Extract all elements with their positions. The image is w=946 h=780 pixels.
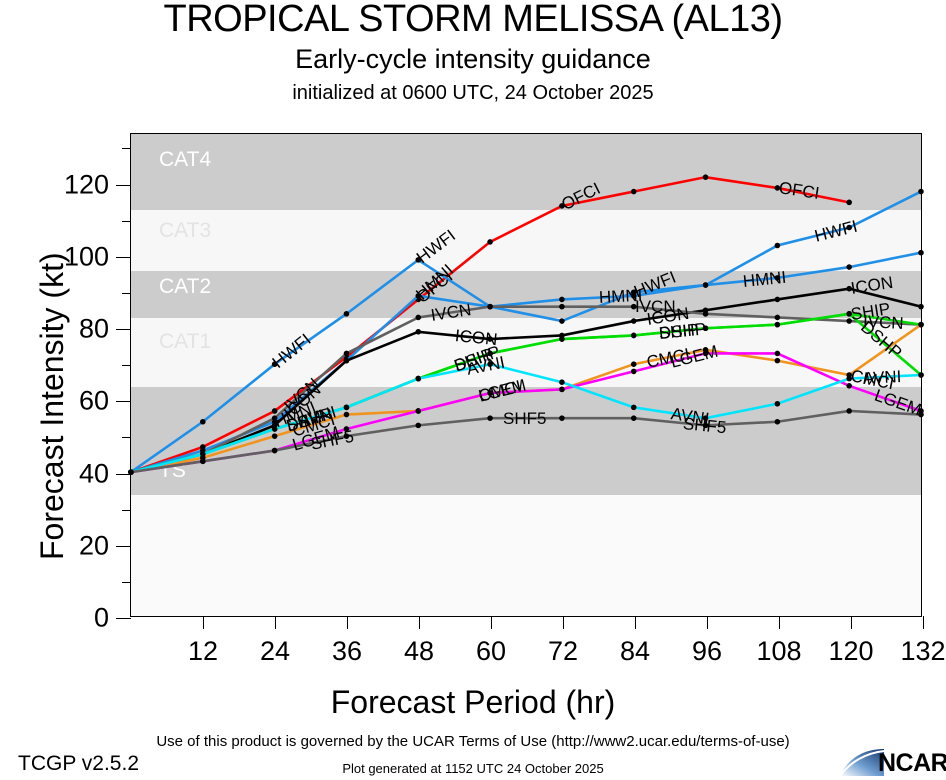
- data-point-ofci: [487, 239, 493, 245]
- x-tick-label: 84: [620, 636, 650, 667]
- data-point-hwfi: [559, 318, 565, 324]
- x-tick-label: 24: [260, 636, 290, 667]
- x-tick: [347, 616, 348, 629]
- data-point-hmni: [703, 282, 709, 288]
- y-tick-major: [116, 546, 131, 547]
- data-point-cmci: [918, 322, 924, 328]
- data-point-icon: [631, 318, 637, 324]
- data-point-shf5: [415, 423, 421, 429]
- y-tick-label: 60: [79, 386, 109, 417]
- y-tick-minor: [122, 148, 131, 149]
- x-tick-label: 60: [476, 636, 506, 667]
- x-tick: [635, 616, 636, 629]
- chart-page: TROPICAL STORM MELISSA (AL13) Early-cycl…: [0, 0, 946, 780]
- y-tick-minor: [122, 365, 131, 366]
- data-point-avni: [918, 372, 924, 378]
- y-tick-major: [116, 257, 131, 258]
- data-point-lgem: [631, 369, 637, 375]
- series-line-ofci: [131, 177, 849, 472]
- x-tick: [203, 616, 204, 629]
- y-tick-major: [116, 401, 131, 402]
- x-tick: [563, 616, 564, 629]
- data-point-lgem: [559, 387, 565, 393]
- data-point-hwfi: [200, 419, 206, 425]
- page-subtitle: Early-cycle intensity guidance: [0, 44, 946, 75]
- x-tick: [491, 616, 492, 629]
- data-point-avni: [631, 405, 637, 411]
- model-label-avni: AVNI: [862, 367, 901, 389]
- data-point-ivcn: [344, 351, 350, 357]
- data-point-ivcn: [487, 304, 493, 310]
- data-point-cmci: [775, 358, 781, 364]
- y-tick-major: [116, 329, 131, 330]
- data-point-cmci: [344, 412, 350, 418]
- data-point-ofci: [703, 174, 709, 180]
- y-tick-major: [116, 185, 131, 186]
- x-tick: [779, 616, 780, 629]
- data-point-hmni: [559, 297, 565, 303]
- x-tick-label: 48: [404, 636, 434, 667]
- x-tick-label: 72: [548, 636, 578, 667]
- data-point-avni: [775, 401, 781, 407]
- data-point-icon: [918, 304, 924, 310]
- data-point-avni: [344, 405, 350, 411]
- data-point-shf5: [200, 459, 206, 465]
- data-point-ofci: [846, 200, 852, 206]
- data-point-lgem: [775, 351, 781, 357]
- data-point-shf5: [487, 415, 493, 421]
- data-point-shf5: [846, 408, 852, 414]
- x-axis-label: Forecast Period (hr): [0, 684, 946, 721]
- data-point-shf5: [559, 415, 565, 421]
- y-tick-minor: [122, 510, 131, 511]
- data-point-avni: [559, 379, 565, 385]
- data-point-avni: [200, 451, 206, 457]
- data-point-icon: [344, 358, 350, 364]
- data-point-avni: [415, 376, 421, 382]
- data-point-dshp: [775, 322, 781, 328]
- y-tick-label: 20: [79, 530, 109, 561]
- x-tick: [419, 616, 420, 629]
- x-tick-label: 12: [188, 636, 218, 667]
- y-tick-label: 80: [79, 314, 109, 345]
- plot-area: TSCAT1CAT2CAT3CAT4 020406080100120 12243…: [130, 133, 922, 617]
- data-point-ivcn: [415, 315, 421, 321]
- ncar-logo-text: NCAR: [878, 749, 946, 778]
- model-label-ivcn: IVCN: [635, 297, 676, 317]
- x-tick: [707, 616, 708, 629]
- data-point-dshp: [631, 333, 637, 339]
- x-tick: [851, 616, 852, 629]
- data-point-cmci: [631, 361, 637, 367]
- x-tick-label: 96: [692, 636, 722, 667]
- data-point-ivcn: [703, 311, 709, 317]
- y-tick-minor: [122, 293, 131, 294]
- data-point-hmni: [846, 264, 852, 270]
- x-tick: [275, 616, 276, 629]
- terms-of-use-text: Use of this product is governed by the U…: [0, 733, 946, 750]
- data-point-ivcn: [559, 304, 565, 310]
- y-tick-label: 100: [64, 241, 109, 272]
- page-title: TROPICAL STORM MELISSA (AL13): [0, 0, 946, 41]
- data-point-icon: [415, 329, 421, 335]
- y-tick-minor: [122, 221, 131, 222]
- x-tick-label: 132: [900, 636, 945, 667]
- y-tick-label: 0: [94, 603, 109, 634]
- model-label-shf5: SHF5: [503, 409, 546, 429]
- initialization-time: initialized at 0600 UTC, 24 October 2025: [0, 82, 946, 105]
- y-tick-label: 120: [64, 169, 109, 200]
- data-point-cmci: [272, 433, 278, 439]
- data-point-hwfi: [918, 189, 924, 195]
- data-point-shf5: [128, 469, 134, 475]
- y-axis-label: Forecast Intensity (kt): [34, 252, 71, 560]
- y-tick-minor: [122, 582, 131, 583]
- x-tick-label: 120: [828, 636, 873, 667]
- data-point-hwfi: [344, 311, 350, 317]
- data-point-shf5: [272, 448, 278, 454]
- series-line-hmni: [131, 253, 921, 472]
- x-tick-label: 108: [756, 636, 801, 667]
- forecast-lines: [131, 134, 921, 616]
- x-tick: [923, 616, 924, 629]
- version-label: TCGP v2.5.2: [18, 752, 139, 776]
- y-tick-minor: [122, 437, 131, 438]
- y-tick-major: [116, 618, 131, 619]
- data-point-ofci: [631, 189, 637, 195]
- y-tick-label: 40: [79, 458, 109, 489]
- plot-generated-text: Plot generated at 1152 UTC 24 October 20…: [0, 761, 946, 776]
- data-point-hmni: [918, 250, 924, 256]
- x-tick-label: 36: [332, 636, 362, 667]
- data-point-lgem: [415, 408, 421, 414]
- data-point-icon: [775, 297, 781, 303]
- data-point-dshp: [559, 336, 565, 342]
- data-point-ivcn: [775, 315, 781, 321]
- data-point-shf5: [631, 415, 637, 421]
- data-point-shf5: [775, 419, 781, 425]
- data-point-hwfi: [775, 243, 781, 249]
